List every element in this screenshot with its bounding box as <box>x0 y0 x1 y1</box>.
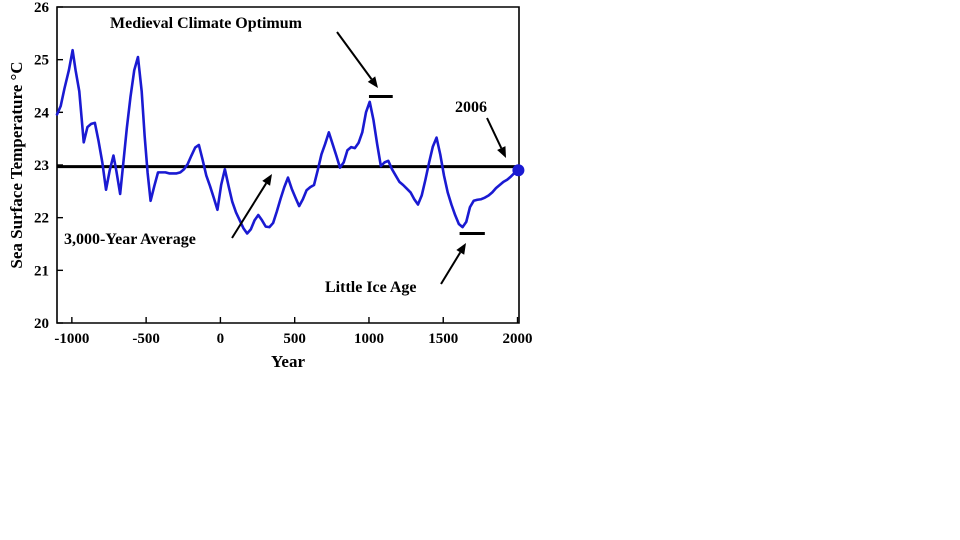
y-tick-label: 21 <box>34 263 49 279</box>
x-tick-label: 0 <box>217 331 225 347</box>
y-tick-label: 24 <box>34 105 50 121</box>
figure-canvas: -1000-5000500100015002000 20212223242526… <box>0 0 960 540</box>
x-tick-label: 1500 <box>428 331 458 347</box>
x-axis-title: Year <box>271 352 305 371</box>
x-tick-label: 2000 <box>503 331 533 347</box>
annotation-label: Little Ice Age <box>325 279 417 296</box>
x-tick-label: -1000 <box>54 331 89 347</box>
x-tick-label: 500 <box>283 331 306 347</box>
x-tick-label: 1000 <box>354 331 384 347</box>
y-tick-label: 26 <box>34 0 50 16</box>
endpoint-marker-2006 <box>512 164 524 176</box>
y-tick-label: 23 <box>34 158 49 174</box>
annotation-label: 2006 <box>455 99 487 116</box>
y-tick-label: 20 <box>34 316 49 332</box>
y-axis-title: Sea Surface Temperature °C <box>7 61 26 268</box>
annotation-label: Medieval Climate Optimum <box>110 15 303 32</box>
plot-background <box>57 7 519 323</box>
y-tick-label: 25 <box>34 53 49 69</box>
x-tick-label: -500 <box>132 331 160 347</box>
annotation-label: 3,000-Year Average <box>64 231 196 248</box>
data-markers <box>512 164 524 176</box>
sea-surface-temperature-chart: -1000-5000500100015002000 20212223242526… <box>0 0 960 540</box>
plot-frame <box>57 7 519 323</box>
y-tick-label: 22 <box>34 211 49 227</box>
